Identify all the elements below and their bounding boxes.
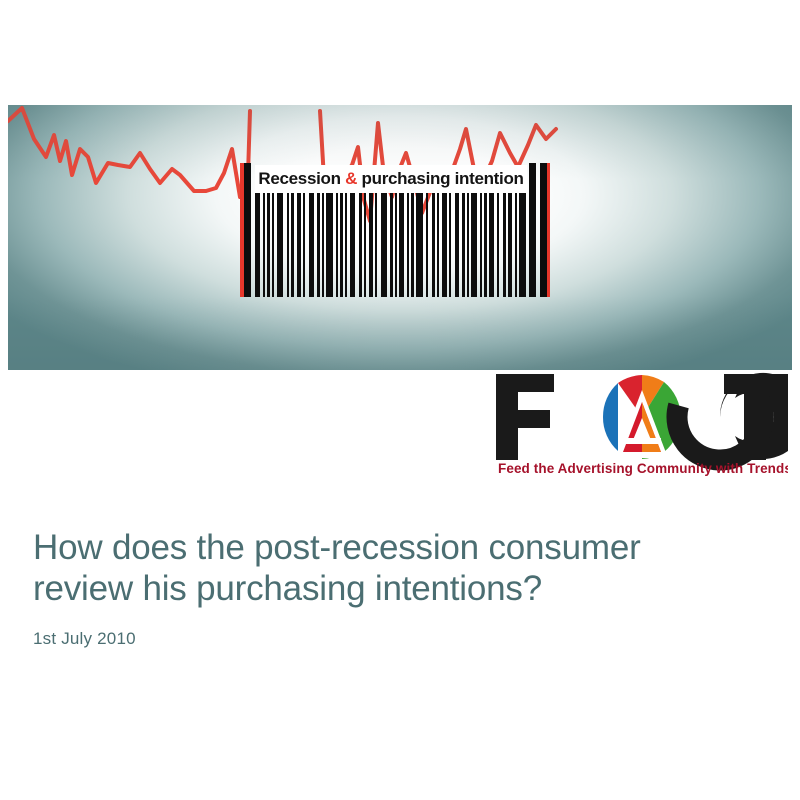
barcode-bar (455, 193, 459, 297)
barcode-bar (471, 193, 477, 297)
trendline-left (8, 108, 250, 197)
barcode-bar (309, 193, 314, 297)
fact-logo: Feed the Advertising Community with Tren… (492, 372, 788, 476)
barcode-bar (272, 193, 274, 297)
logo-wedge-blue (603, 383, 618, 417)
barcode-bar (359, 193, 362, 297)
barcode-label-prefix: Recession (258, 169, 345, 188)
barcode-bar (484, 193, 487, 297)
barcode-bar (432, 193, 435, 297)
barcode-bar (395, 193, 397, 297)
fact-logo-artwork: Feed the Advertising Community with Tren… (492, 372, 788, 476)
barcode-bar (442, 193, 447, 297)
barcode-bar (336, 193, 338, 297)
barcode-bar (263, 193, 265, 297)
barcode-guard-bar-right2 (540, 163, 547, 297)
barcode-guard-bar-right1 (529, 163, 536, 297)
barcode-bar (497, 193, 499, 297)
barcode-bar (407, 193, 409, 297)
barcode-bar (462, 193, 465, 297)
barcode-bar (375, 193, 377, 297)
barcode-bar (449, 193, 451, 297)
barcode-label-plate: Recession & purchasing intention (255, 165, 527, 193)
barcode-bar (350, 193, 355, 297)
barcode-bar (326, 193, 333, 297)
logo-a-crossbar-gap (623, 438, 661, 444)
barcode-bar (297, 193, 301, 297)
barcode-bar (426, 193, 428, 297)
barcode-bar (340, 193, 343, 297)
page-title-line-2: review his purchasing intentions? (33, 568, 763, 609)
barcode-bar (480, 193, 482, 297)
barcode-bar (381, 193, 387, 297)
barcode-bar (411, 193, 414, 297)
barcode-bar (255, 193, 260, 297)
barcode-bar (369, 193, 373, 297)
barcode-graphic: Recession & purchasing intention (240, 163, 552, 297)
barcode-bar (503, 193, 506, 297)
slide-date: 1st July 2010 (33, 629, 136, 649)
page-title: How does the post-recession consumer rev… (33, 527, 763, 609)
barcode-label-ampersand: & (345, 169, 357, 188)
barcode-bar (322, 193, 324, 297)
barcode-bar (519, 193, 526, 297)
logo-tagline: Feed the Advertising Community with Tren… (498, 461, 788, 476)
barcode-bar (364, 193, 366, 297)
barcode-bar (291, 193, 294, 297)
logo-letter-f (496, 374, 554, 460)
barcode-guard-bar-left (244, 163, 251, 297)
barcode-bar (303, 193, 305, 297)
barcode-bar (345, 193, 347, 297)
barcode-bar (390, 193, 393, 297)
barcode-bar (287, 193, 289, 297)
barcode-bar (317, 193, 320, 297)
barcode-bar (416, 193, 423, 297)
barcode-bar (467, 193, 469, 297)
barcode-bar (399, 193, 404, 297)
barcode-bar (277, 193, 283, 297)
barcode-label-suffix: purchasing intention (357, 169, 524, 188)
barcode-bars (255, 193, 527, 297)
barcode-bar (437, 193, 439, 297)
barcode-label-text: Recession & purchasing intention (258, 169, 523, 189)
title-slide: Recession & purchasing intention (0, 0, 800, 800)
barcode-bar (508, 193, 512, 297)
barcode-bar (267, 193, 270, 297)
barcode-bar (515, 193, 517, 297)
logo-wedge-blue-lower (603, 417, 618, 451)
barcode-bar (489, 193, 494, 297)
page-title-line-1: How does the post-recession consumer (33, 527, 763, 568)
